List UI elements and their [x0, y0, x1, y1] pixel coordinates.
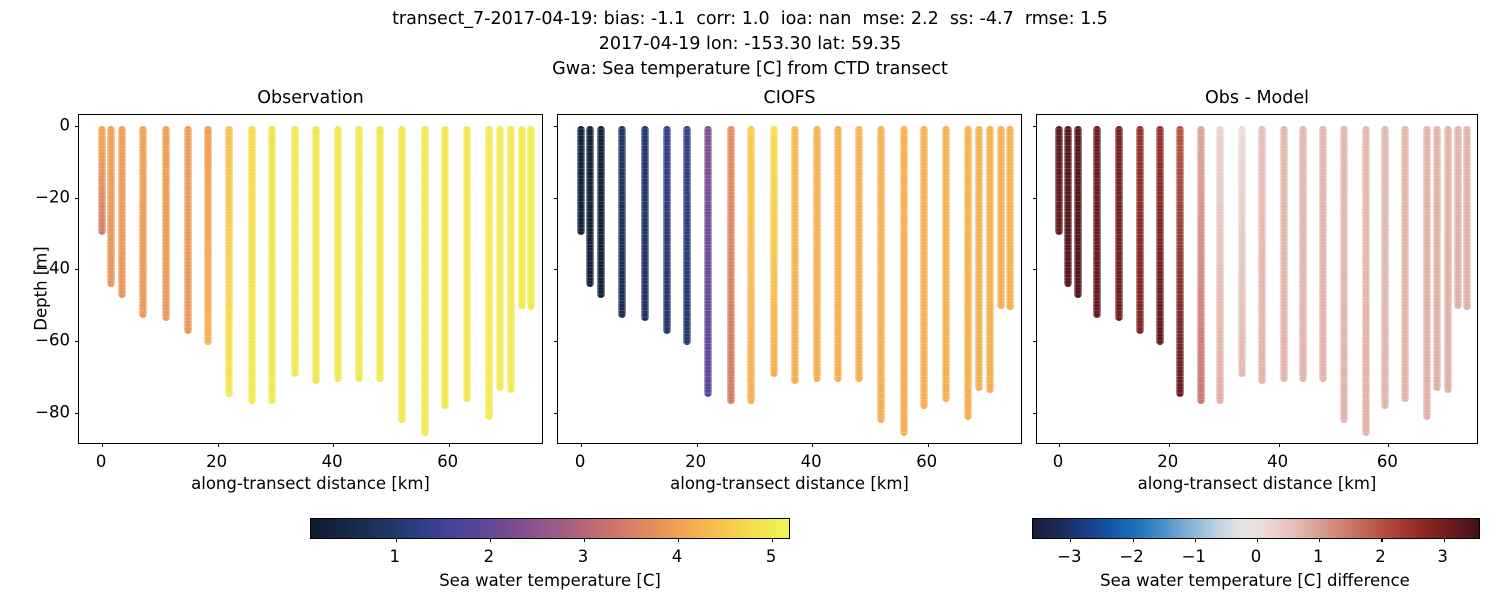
cast-marker-texture [997, 126, 1005, 309]
cast-marker-texture [334, 126, 342, 382]
ctd-cast-profile[interactable] [355, 126, 363, 382]
ctd-cast-profile[interactable] [1136, 126, 1144, 334]
ctd-cast-profile[interactable] [98, 126, 106, 235]
cast-marker-texture [855, 126, 863, 382]
cast-marker-texture [376, 126, 384, 382]
cast-edge-feather [1093, 126, 1101, 318]
colorbar-tick [1195, 538, 1196, 542]
cast-edge-feather [398, 126, 406, 424]
colorbar-tick [490, 538, 491, 542]
ctd-cast-profile[interactable] [586, 126, 594, 287]
cast-marker-texture [1299, 126, 1307, 382]
x-axis-tick-label: 40 [801, 452, 822, 471]
figure-canvas: transect_7-2017-04-19: bias: -1.1 corr: … [0, 0, 1500, 600]
ctd-cast-profile[interactable] [118, 126, 126, 298]
cast-marker-texture [162, 126, 170, 321]
ctd-cast-profile[interactable] [986, 126, 994, 393]
cast-marker-texture [463, 126, 471, 402]
cast-marker-texture [1423, 126, 1431, 420]
ctd-cast-profile[interactable] [997, 126, 1005, 309]
cast-marker-texture [770, 126, 778, 377]
cast-marker-texture [964, 126, 972, 420]
cast-edge-feather [1454, 126, 1462, 309]
cast-marker-texture [900, 126, 908, 436]
x-axis-tick-label: 20 [685, 452, 706, 471]
colorbar-tick-label: 3 [578, 547, 589, 566]
ctd-cast-profile[interactable] [1115, 126, 1123, 321]
y-axis-tick-label: −80 [20, 402, 70, 421]
x-axis-label-obs-minus-model: along-transect distance [km] [1036, 474, 1478, 493]
ctd-cast-profile[interactable] [1444, 126, 1452, 393]
colorbar-tick-label: 2 [484, 547, 495, 566]
cast-edge-feather [618, 126, 626, 318]
cast-edge-feather [683, 126, 691, 345]
cast-edge-feather [1055, 126, 1063, 235]
x-axis-tick-label: 60 [916, 452, 937, 471]
colorbar-tick [1444, 538, 1445, 542]
ctd-cast-profile[interactable] [813, 126, 821, 382]
ctd-cast-profile[interactable] [162, 126, 170, 321]
colorbar-tick-label: −3 [1057, 547, 1081, 566]
cast-marker-texture [184, 126, 192, 334]
cast-edge-feather [1299, 126, 1307, 382]
cast-marker-texture [986, 126, 994, 393]
cast-marker-texture [577, 126, 585, 235]
ctd-cast-profile[interactable] [1093, 126, 1101, 318]
figure-title-line-3: Gwa: Sea temperature [C] from CTD transe… [0, 57, 1500, 82]
colorbar-tick-label: 4 [672, 547, 683, 566]
ctd-cast-profile[interactable] [248, 126, 256, 404]
cast-edge-feather [1216, 126, 1224, 404]
colorbar-tick [584, 538, 585, 542]
x-axis-label-observation: along-transect distance [km] [78, 474, 543, 493]
cast-marker-texture [641, 126, 649, 321]
cast-edge-feather [184, 126, 192, 334]
cast-edge-feather [312, 126, 320, 384]
cast-marker-texture [98, 126, 106, 235]
ctd-cast-profile[interactable] [291, 126, 299, 377]
colorbar-tick [396, 538, 397, 542]
cast-edge-feather [1423, 126, 1431, 420]
x-axis-tick [581, 443, 582, 447]
cast-edge-feather [421, 126, 429, 436]
cast-marker-texture [518, 126, 526, 309]
ctd-cast-profile[interactable] [834, 126, 842, 382]
ctd-cast-profile[interactable] [577, 126, 585, 235]
cast-edge-feather [334, 126, 342, 382]
ctd-cast-profile[interactable] [747, 126, 755, 404]
cast-edge-feather [1362, 126, 1370, 436]
y-axis-tick-label: −40 [20, 259, 70, 278]
ctd-cast-profile[interactable] [421, 126, 429, 436]
ctd-cast-profile[interactable] [1197, 126, 1205, 404]
cast-edge-feather [1444, 126, 1452, 393]
cast-layer [79, 115, 542, 443]
colorbar-tick [1319, 538, 1320, 542]
ctd-cast-profile[interactable] [1340, 126, 1348, 424]
cast-marker-texture [421, 126, 429, 436]
cast-marker-texture [1055, 126, 1063, 235]
ctd-cast-profile[interactable] [1055, 126, 1063, 235]
cast-edge-feather [248, 126, 256, 404]
ctd-cast-profile[interactable] [942, 126, 950, 402]
cast-edge-feather [964, 126, 972, 420]
ctd-cast-profile[interactable] [1463, 126, 1471, 311]
colorbar-temperature[interactable] [310, 518, 790, 539]
x-axis-tick [697, 443, 698, 447]
cast-edge-feather [920, 126, 928, 409]
cast-edge-feather [527, 126, 535, 311]
cast-marker-texture [1319, 126, 1327, 382]
cast-edge-feather [597, 126, 605, 298]
cast-marker-texture [204, 126, 212, 345]
cast-edge-feather [641, 126, 649, 321]
colorbar-tick [678, 538, 679, 542]
cast-marker-texture [975, 126, 983, 391]
colorbar-tick-label: 2 [1375, 547, 1386, 566]
x-axis-tick-label: 0 [575, 452, 586, 471]
cast-edge-feather [1074, 126, 1082, 298]
ctd-cast-profile[interactable] [1433, 126, 1441, 391]
colorbar-temperature-difference[interactable] [1032, 518, 1480, 539]
ctd-cast-profile[interactable] [770, 126, 778, 377]
cast-edge-feather [507, 126, 515, 393]
ctd-cast-profile[interactable] [1299, 126, 1307, 382]
ctd-cast-profile[interactable] [641, 126, 649, 321]
ctd-cast-profile[interactable] [1176, 126, 1184, 397]
ctd-cast-profile[interactable] [1454, 126, 1462, 309]
cast-edge-feather [355, 126, 363, 382]
figure-title-line-2: 2017-04-19 lon: -153.30 lat: 59.35 [0, 32, 1500, 57]
colorbar-tick [1257, 538, 1258, 542]
cast-marker-texture [747, 126, 755, 404]
cast-edge-feather [1006, 126, 1014, 311]
cast-marker-texture [1463, 126, 1471, 311]
ctd-cast-profile[interactable] [683, 126, 691, 345]
ctd-cast-profile[interactable] [268, 126, 276, 404]
cast-edge-feather [1238, 126, 1246, 377]
ctd-cast-profile[interactable] [376, 126, 384, 382]
panel-title-ciofs: CIOFS [557, 88, 1022, 108]
colorbar-tick-label: 1 [1313, 547, 1324, 566]
cast-marker-texture [791, 126, 799, 384]
x-axis-tick-label: 60 [1377, 452, 1398, 471]
cast-marker-texture [618, 126, 626, 318]
ctd-cast-profile[interactable] [1216, 126, 1224, 404]
cast-marker-texture [704, 126, 712, 397]
cast-marker-texture [507, 126, 515, 393]
x-axis-tick-label: 0 [1053, 452, 1064, 471]
panel-title-obs-minus-model: Obs - Model [1036, 88, 1478, 108]
figure-title-line-1: transect_7-2017-04-19: bias: -1.1 corr: … [0, 7, 1500, 32]
ctd-cast-profile[interactable] [463, 126, 471, 402]
cast-edge-feather [1064, 126, 1072, 287]
ctd-cast-profile[interactable] [1238, 126, 1246, 377]
x-axis-tick-label: 60 [437, 452, 458, 471]
panel-observation-plot-area[interactable] [78, 114, 543, 444]
colorbar-difference-title: Sea water temperature [C] difference [1010, 571, 1500, 590]
ctd-cast-profile[interactable] [877, 126, 885, 424]
cast-marker-texture [527, 126, 535, 311]
colorbar-tick-label: −1 [1182, 547, 1206, 566]
cast-marker-texture [1216, 126, 1224, 404]
cast-marker-texture [1074, 126, 1082, 298]
cast-marker-texture [663, 126, 671, 334]
x-axis-label-ciofs: along-transect distance [km] [557, 474, 1022, 493]
cast-edge-feather [291, 126, 299, 377]
cast-edge-feather [162, 126, 170, 321]
x-axis-tick-label: 20 [206, 452, 227, 471]
cast-edge-feather [98, 126, 106, 235]
cast-marker-texture [1136, 126, 1144, 334]
cast-marker-texture [877, 126, 885, 424]
cast-edge-feather [704, 126, 712, 397]
cast-edge-feather [747, 126, 755, 404]
cast-edge-feather [1156, 126, 1164, 345]
ctd-cast-profile[interactable] [1423, 126, 1431, 420]
cast-layer [558, 115, 1021, 443]
cast-marker-texture [1258, 126, 1266, 384]
ctd-cast-profile[interactable] [900, 126, 908, 436]
ctd-cast-profile[interactable] [1064, 126, 1072, 287]
colorbar-tick-label: 1 [389, 547, 400, 566]
ctd-cast-profile[interactable] [1156, 126, 1164, 345]
cast-edge-feather [586, 126, 594, 287]
cast-edge-feather [1176, 126, 1184, 397]
cast-marker-texture [586, 126, 594, 287]
ctd-cast-profile[interactable] [441, 126, 449, 409]
cast-marker-texture [1454, 126, 1462, 309]
cast-marker-texture [1064, 126, 1072, 287]
cast-edge-feather [834, 126, 842, 382]
cast-edge-feather [1433, 126, 1441, 391]
cast-edge-feather [1463, 126, 1471, 311]
cast-marker-texture [398, 126, 406, 424]
cast-edge-feather [268, 126, 276, 404]
colorbar-tick [772, 538, 773, 542]
cast-marker-texture [139, 126, 147, 318]
cast-edge-feather [727, 126, 735, 404]
ctd-cast-profile[interactable] [855, 126, 863, 382]
cast-marker-texture [485, 126, 493, 420]
ctd-cast-profile[interactable] [920, 126, 928, 409]
cast-edge-feather [1197, 126, 1205, 404]
ctd-cast-profile[interactable] [107, 126, 115, 287]
cast-edge-feather [518, 126, 526, 309]
colorbar-tick-label: 0 [1251, 547, 1262, 566]
cast-edge-feather [813, 126, 821, 382]
cast-layer [1037, 115, 1477, 443]
x-axis-tick [102, 443, 103, 447]
colorbar-tick [1381, 538, 1382, 542]
cast-edge-feather [139, 126, 147, 318]
ctd-cast-profile[interactable] [485, 126, 493, 420]
ctd-cast-profile[interactable] [975, 126, 983, 391]
cast-edge-feather [118, 126, 126, 298]
ctd-cast-profile[interactable] [527, 126, 535, 311]
cast-marker-texture [1093, 126, 1101, 318]
panel-obs-minus-model-plot-area[interactable] [1036, 114, 1478, 444]
cast-marker-texture [597, 126, 605, 298]
cast-marker-texture [1197, 126, 1205, 404]
ctd-cast-profile[interactable] [597, 126, 605, 298]
cast-marker-texture [496, 126, 504, 391]
cast-marker-texture [1381, 126, 1389, 409]
x-axis-tick [928, 443, 929, 447]
cast-edge-feather [1319, 126, 1327, 382]
cast-marker-texture [118, 126, 126, 298]
ctd-cast-profile[interactable] [334, 126, 342, 382]
ctd-cast-profile[interactable] [1381, 126, 1389, 409]
cast-edge-feather [1136, 126, 1144, 334]
x-axis-tick [812, 443, 813, 447]
cast-edge-feather [1381, 126, 1389, 409]
cast-marker-texture [107, 126, 115, 287]
ctd-cast-profile[interactable] [1074, 126, 1082, 298]
cast-marker-texture [727, 126, 735, 404]
colorbar-tick [1133, 538, 1134, 542]
cast-edge-feather [855, 126, 863, 382]
cast-edge-feather [1340, 126, 1348, 424]
x-axis-tick-label: 40 [322, 452, 343, 471]
ctd-cast-profile[interactable] [184, 126, 192, 334]
ctd-cast-profile[interactable] [204, 126, 212, 345]
colorbar-tick-label: 5 [766, 547, 777, 566]
cast-marker-texture [1238, 126, 1246, 377]
cast-edge-feather [975, 126, 983, 391]
x-axis-tick [1279, 443, 1280, 447]
ctd-cast-profile[interactable] [518, 126, 526, 309]
cast-edge-feather [441, 126, 449, 409]
colorbar-tick-label: −2 [1119, 547, 1143, 566]
colorbar-tick-label: 3 [1437, 547, 1448, 566]
cast-edge-feather [107, 126, 115, 287]
cast-marker-texture [1401, 126, 1409, 402]
ctd-cast-profile[interactable] [1401, 126, 1409, 402]
colorbar-tick [1070, 538, 1071, 542]
cast-edge-feather [376, 126, 384, 382]
cast-marker-texture [291, 126, 299, 377]
ctd-cast-profile[interactable] [496, 126, 504, 391]
cast-marker-texture [1176, 126, 1184, 397]
cast-edge-feather [463, 126, 471, 402]
ctd-cast-profile[interactable] [398, 126, 406, 424]
cast-marker-texture [942, 126, 950, 402]
cast-marker-texture [1006, 126, 1014, 311]
colorbar-temperature-title: Sea water temperature [C] [310, 571, 790, 590]
cast-marker-texture [1280, 126, 1288, 382]
cast-edge-feather [663, 126, 671, 334]
cast-edge-feather [577, 126, 585, 235]
cast-marker-texture [268, 126, 276, 404]
cast-marker-texture [1156, 126, 1164, 345]
cast-marker-texture [355, 126, 363, 382]
cast-edge-feather [942, 126, 950, 402]
cast-marker-texture [248, 126, 256, 404]
cast-marker-texture [1433, 126, 1441, 391]
cast-edge-feather [877, 126, 885, 424]
cast-marker-texture [834, 126, 842, 382]
x-axis-tick [1388, 443, 1389, 447]
cast-edge-feather [496, 126, 504, 391]
cast-edge-feather [225, 126, 233, 397]
cast-edge-feather [791, 126, 799, 384]
ctd-cast-profile[interactable] [1006, 126, 1014, 311]
ctd-cast-profile[interactable] [618, 126, 626, 318]
cast-marker-texture [1115, 126, 1123, 321]
ctd-cast-profile[interactable] [663, 126, 671, 334]
ctd-cast-profile[interactable] [507, 126, 515, 393]
ctd-cast-profile[interactable] [727, 126, 735, 404]
ctd-cast-profile[interactable] [139, 126, 147, 318]
ctd-cast-profile[interactable] [1319, 126, 1327, 382]
cast-marker-texture [441, 126, 449, 409]
cast-marker-texture [813, 126, 821, 382]
y-axis-tick-label: 0 [20, 115, 70, 134]
cast-marker-texture [1362, 126, 1370, 436]
cast-edge-feather [997, 126, 1005, 309]
cast-marker-texture [683, 126, 691, 345]
ctd-cast-profile[interactable] [1280, 126, 1288, 382]
cast-marker-texture [1340, 126, 1348, 424]
cast-edge-feather [1258, 126, 1266, 384]
ctd-cast-profile[interactable] [704, 126, 712, 397]
x-axis-tick [1059, 443, 1060, 447]
cast-edge-feather [1280, 126, 1288, 382]
x-axis-tick [333, 443, 334, 447]
panel-title-observation: Observation [78, 88, 543, 108]
cast-edge-feather [986, 126, 994, 393]
panel-ciofs-plot-area[interactable] [557, 114, 1022, 444]
cast-edge-feather [1115, 126, 1123, 321]
y-axis-tick-label: −60 [20, 330, 70, 349]
x-axis-tick-label: 40 [1267, 452, 1288, 471]
cast-edge-feather [1401, 126, 1409, 402]
cast-marker-texture [920, 126, 928, 409]
ctd-cast-profile[interactable] [791, 126, 799, 384]
cast-edge-feather [204, 126, 212, 345]
cast-marker-texture [225, 126, 233, 397]
ctd-cast-profile[interactable] [1258, 126, 1266, 384]
ctd-cast-profile[interactable] [964, 126, 972, 420]
y-axis-tick-label: −20 [20, 187, 70, 206]
x-axis-tick-label: 20 [1157, 452, 1178, 471]
cast-edge-feather [485, 126, 493, 420]
cast-edge-feather [900, 126, 908, 436]
x-axis-tick [1169, 443, 1170, 447]
ctd-cast-profile[interactable] [312, 126, 320, 384]
cast-marker-texture [312, 126, 320, 384]
x-axis-tick [218, 443, 219, 447]
ctd-cast-profile[interactable] [1362, 126, 1370, 436]
cast-marker-texture [1444, 126, 1452, 393]
x-axis-tick-label: 0 [96, 452, 107, 471]
cast-edge-feather [770, 126, 778, 377]
ctd-cast-profile[interactable] [225, 126, 233, 397]
x-axis-tick [449, 443, 450, 447]
